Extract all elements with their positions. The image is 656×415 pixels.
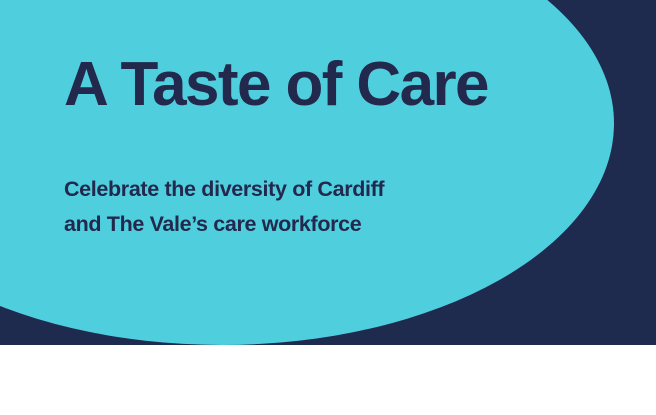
subtitle-line-2: and The Vale’s care workforce [64, 207, 484, 242]
poster-canvas: A Taste of Care Celebrate the diversity … [0, 0, 656, 415]
poster-subtitle: Celebrate the diversity of Cardiff and T… [64, 172, 484, 242]
hero-content: A Taste of Care Celebrate the diversity … [0, 0, 656, 345]
footer-logo-strip: CARDIFF CAERDYDD VALEofGLAMORGAN [0, 345, 656, 415]
page-title: A Taste of Care [64, 52, 488, 119]
hero-band: A Taste of Care Celebrate the diversity … [0, 0, 656, 345]
subtitle-line-1: Celebrate the diversity of Cardiff [64, 172, 484, 207]
